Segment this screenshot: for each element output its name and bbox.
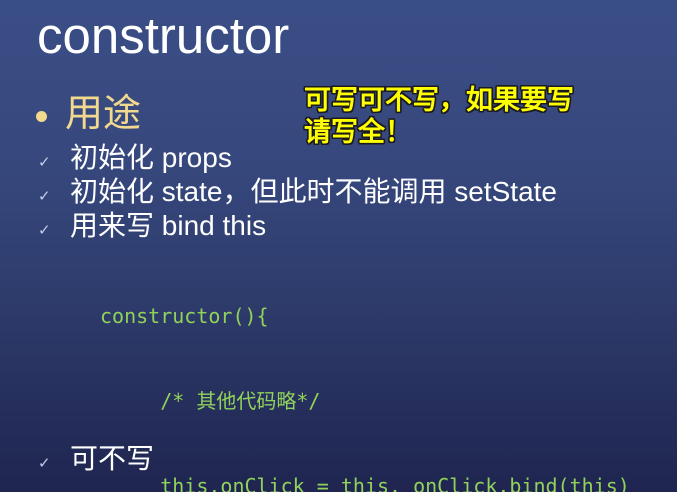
- callout-line-1: 可写可不写，如果要写: [304, 84, 574, 116]
- list-item-label: 用来写 bind this: [70, 209, 266, 243]
- slide-canvas: constructor 用途 可写可不写，如果要写 请写全！ ✓ 初始化 pro…: [0, 0, 677, 492]
- code-line: constructor(){: [100, 302, 630, 330]
- list-item: ✓ 初始化 props: [38, 141, 232, 178]
- code-line: /* 其他代码略*/: [100, 387, 630, 415]
- list-item: ✓ 初始化 state，但此时不能调用 setState: [38, 175, 557, 212]
- code-block: constructor(){ /* 其他代码略*/ this.onClick =…: [100, 245, 630, 492]
- bullet-level1: 用途: [36, 93, 141, 135]
- code-line: this.onClick = this. onClick.bind(this): [100, 472, 630, 492]
- page-title: constructor: [37, 6, 289, 66]
- callout-annotation: 可写可不写，如果要写 请写全！: [304, 84, 574, 148]
- check-icon: ✓: [38, 182, 70, 212]
- bullet-level1-label: 用途: [65, 93, 141, 135]
- list-item-label: 初始化 state，但此时不能调用 setState: [70, 175, 557, 209]
- list-item: ✓ 用来写 bind this: [38, 209, 266, 246]
- callout-line-2: 请写全！: [304, 116, 574, 148]
- list-item-label: 初始化 props: [70, 141, 232, 175]
- check-icon: ✓: [38, 148, 70, 178]
- check-icon: ✓: [38, 449, 70, 479]
- round-bullet-icon: [36, 111, 47, 122]
- check-icon: ✓: [38, 216, 70, 246]
